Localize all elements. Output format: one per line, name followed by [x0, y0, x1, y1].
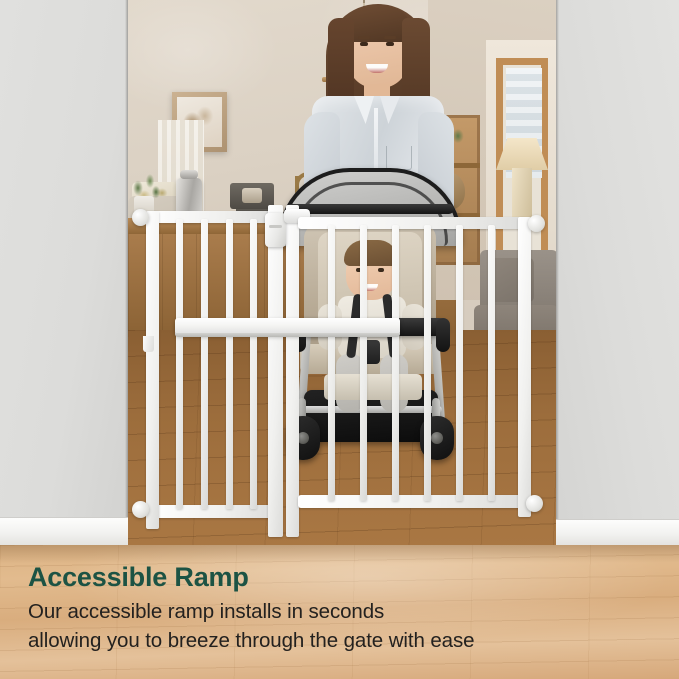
foreground-wall-left — [0, 0, 128, 545]
gate-mount-knob-top-left[interactable] — [132, 209, 149, 226]
floor-contact-shadow — [0, 545, 679, 563]
gate-bar-right-6 — [488, 225, 495, 501]
photo-scene — [0, 0, 679, 545]
gate-hinge-post — [286, 205, 299, 537]
gate-bar-right-5 — [456, 225, 463, 501]
gate-latch-post — [268, 205, 283, 537]
eyebrow-right — [384, 36, 396, 39]
gate-right-post — [518, 217, 531, 517]
gate-bar-right-2 — [360, 225, 367, 501]
caption-heading: Accessible Ramp — [28, 562, 658, 592]
gate-bar-right-3 — [392, 225, 399, 501]
gate-post-foot — [143, 336, 154, 352]
gate-bar-left-3 — [226, 219, 233, 509]
caption-line-1: Our accessible ramp installs in seconds — [28, 597, 658, 626]
gate-bar-right-1 — [328, 225, 335, 501]
gate-bar-left-1 — [176, 219, 183, 509]
caption-line-2: allowing you to breeze through the gate … — [28, 626, 658, 655]
baseboard-right — [556, 519, 679, 545]
gate-bar-left-4 — [250, 219, 257, 509]
baby-safety-gate — [128, 195, 556, 545]
caption-block: Accessible Ramp Our accessible ramp inst… — [28, 562, 658, 655]
gate-latch-housing[interactable] — [265, 213, 286, 247]
accessible-ramp-lip — [175, 333, 400, 337]
eye-left — [360, 42, 368, 46]
gate-mount-knob-bottom-right[interactable] — [526, 495, 543, 512]
eyebrow-left — [358, 36, 370, 39]
gate-latch-indicator — [269, 225, 282, 228]
gate-bar-left-2 — [201, 219, 208, 509]
kettle-lid — [180, 170, 198, 179]
gate-mount-knob-bottom-left[interactable] — [132, 501, 149, 518]
gate-mount-knob-top-right[interactable] — [528, 215, 545, 232]
product-lifestyle-image: Accessible Ramp Our accessible ramp inst… — [0, 0, 679, 679]
baseboard-left — [0, 517, 128, 545]
foreground-wall-right — [556, 0, 679, 545]
gate-left-post — [146, 211, 159, 529]
eye-right — [386, 42, 394, 46]
shirt-pocket — [386, 146, 412, 170]
gate-bar-right-4 — [424, 225, 431, 501]
